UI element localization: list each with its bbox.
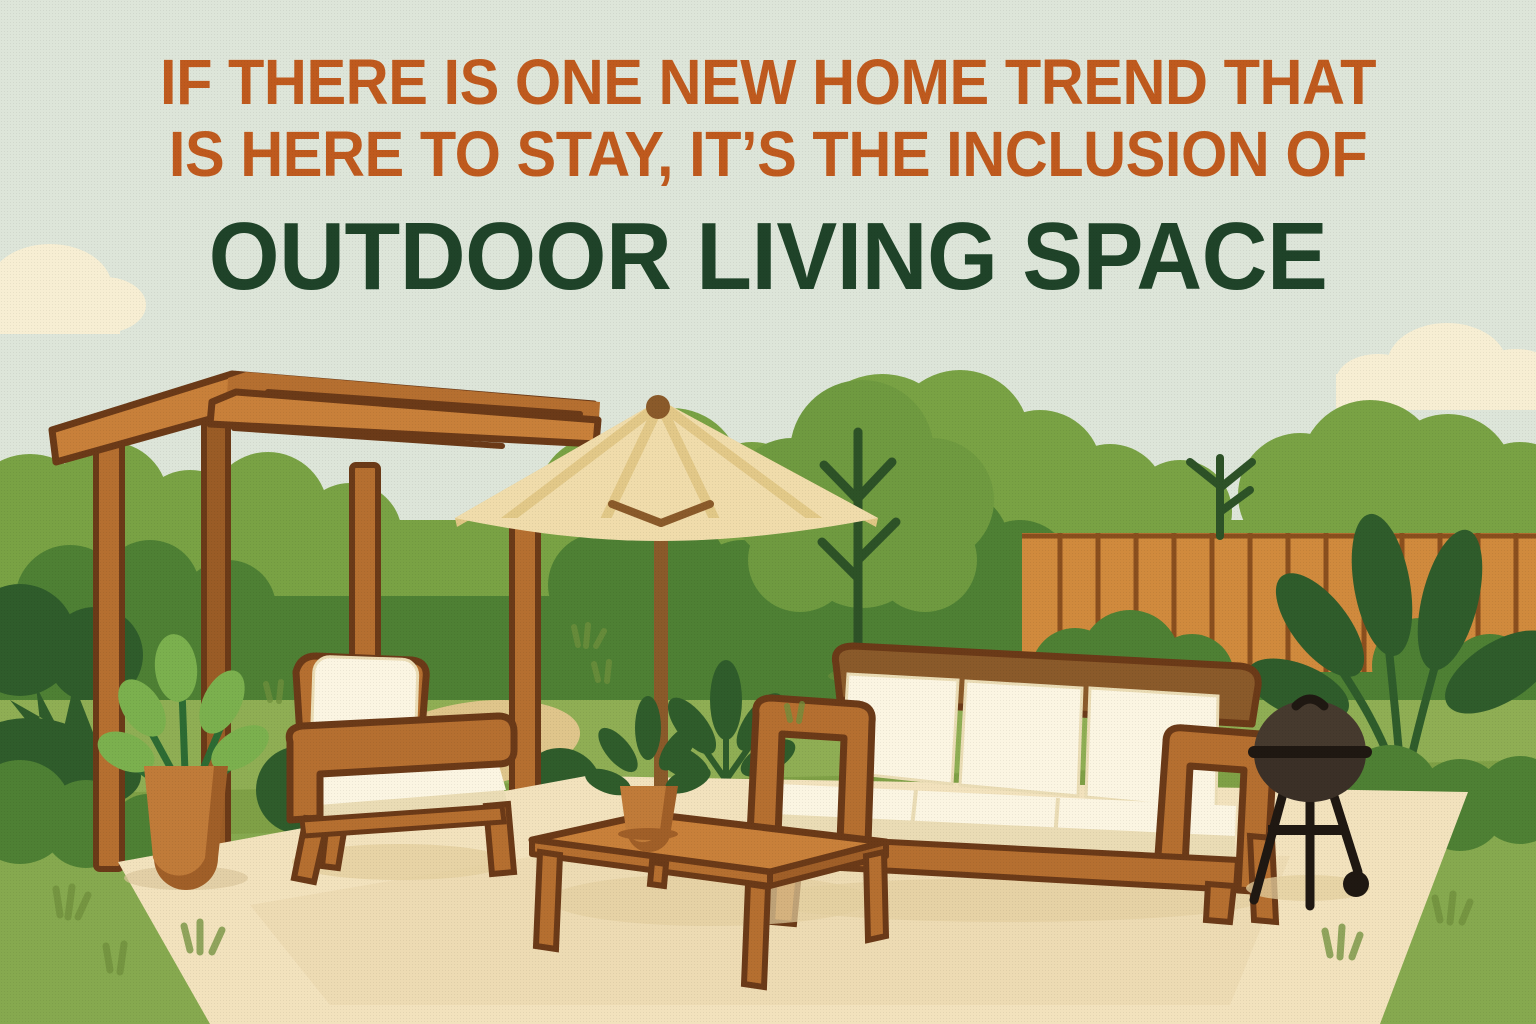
headline-line-2: IS HERE TO STAY, IT’S THE INCLUSION OF: [54, 119, 1482, 189]
headline-line-1: IF THERE IS ONE NEW HOME TREND THAT: [54, 47, 1482, 117]
headline-line-3: OUTDOOR LIVING SPACE: [38, 205, 1497, 309]
poster-root: IF THERE IS ONE NEW HOME TREND THAT IS H…: [0, 0, 1536, 1024]
